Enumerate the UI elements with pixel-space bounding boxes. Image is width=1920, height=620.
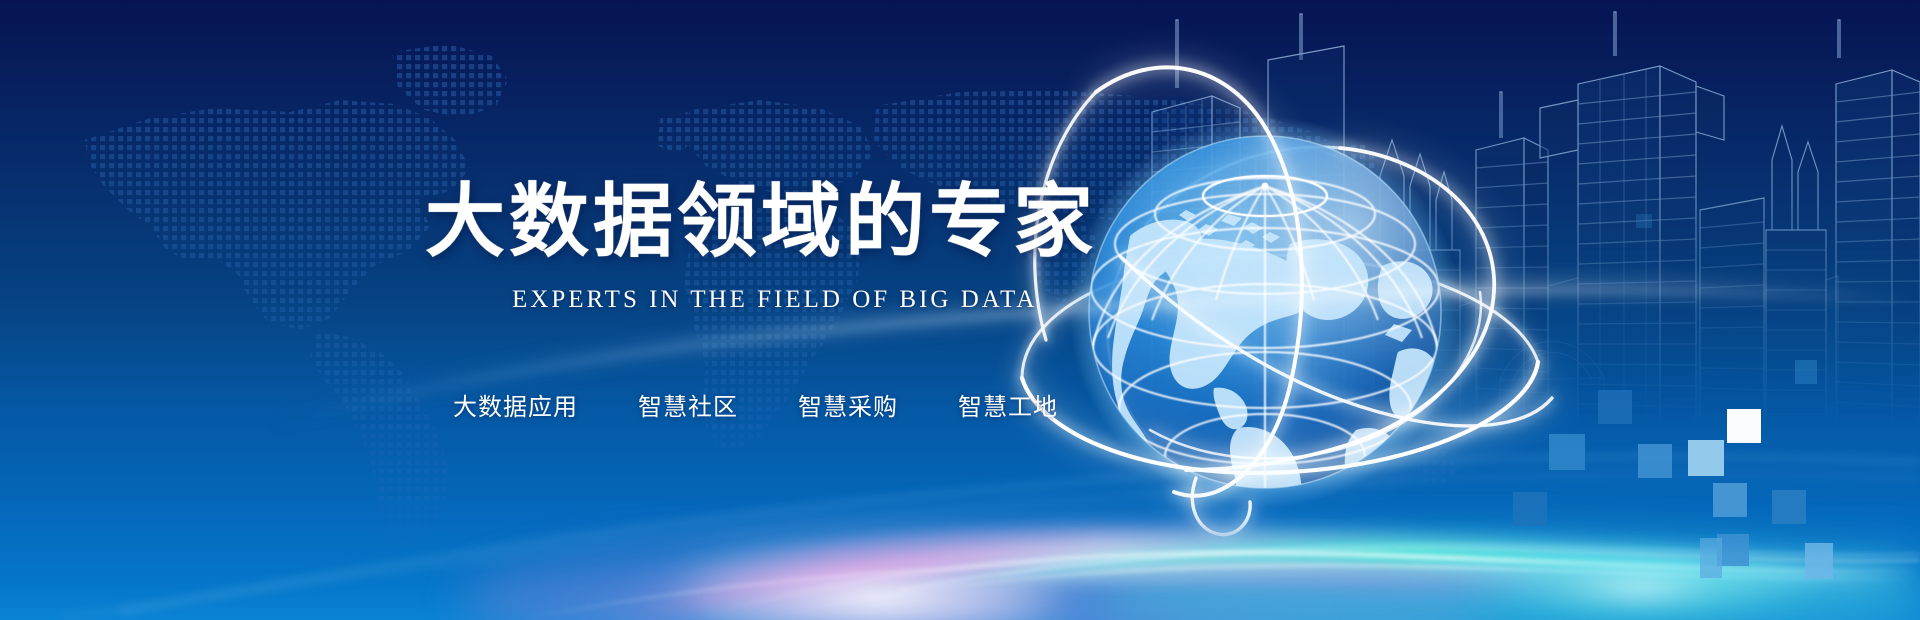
tagline-item-1[interactable]: 智慧社区 xyxy=(638,387,738,422)
tagline-item-2[interactable]: 智慧采购 xyxy=(798,387,898,422)
banner-hero: 大数据领域的专家 EXPERTS IN THE FIELD OF BIG DAT… xyxy=(0,0,1920,620)
tagline-item-3[interactable]: 智慧工地 xyxy=(958,387,1058,422)
hero-text-block: 大数据领域的专家 EXPERTS IN THE FIELD OF BIG DAT… xyxy=(0,0,1100,620)
page-title: 大数据领域的专家 xyxy=(425,182,1097,262)
subtitle: EXPERTS IN THE FIELD OF BIG DATA xyxy=(512,286,1037,314)
tagline-list: 大数据应用 智慧社区 智慧采购 智慧工地 xyxy=(453,387,1058,422)
tagline-item-0[interactable]: 大数据应用 xyxy=(453,387,578,422)
